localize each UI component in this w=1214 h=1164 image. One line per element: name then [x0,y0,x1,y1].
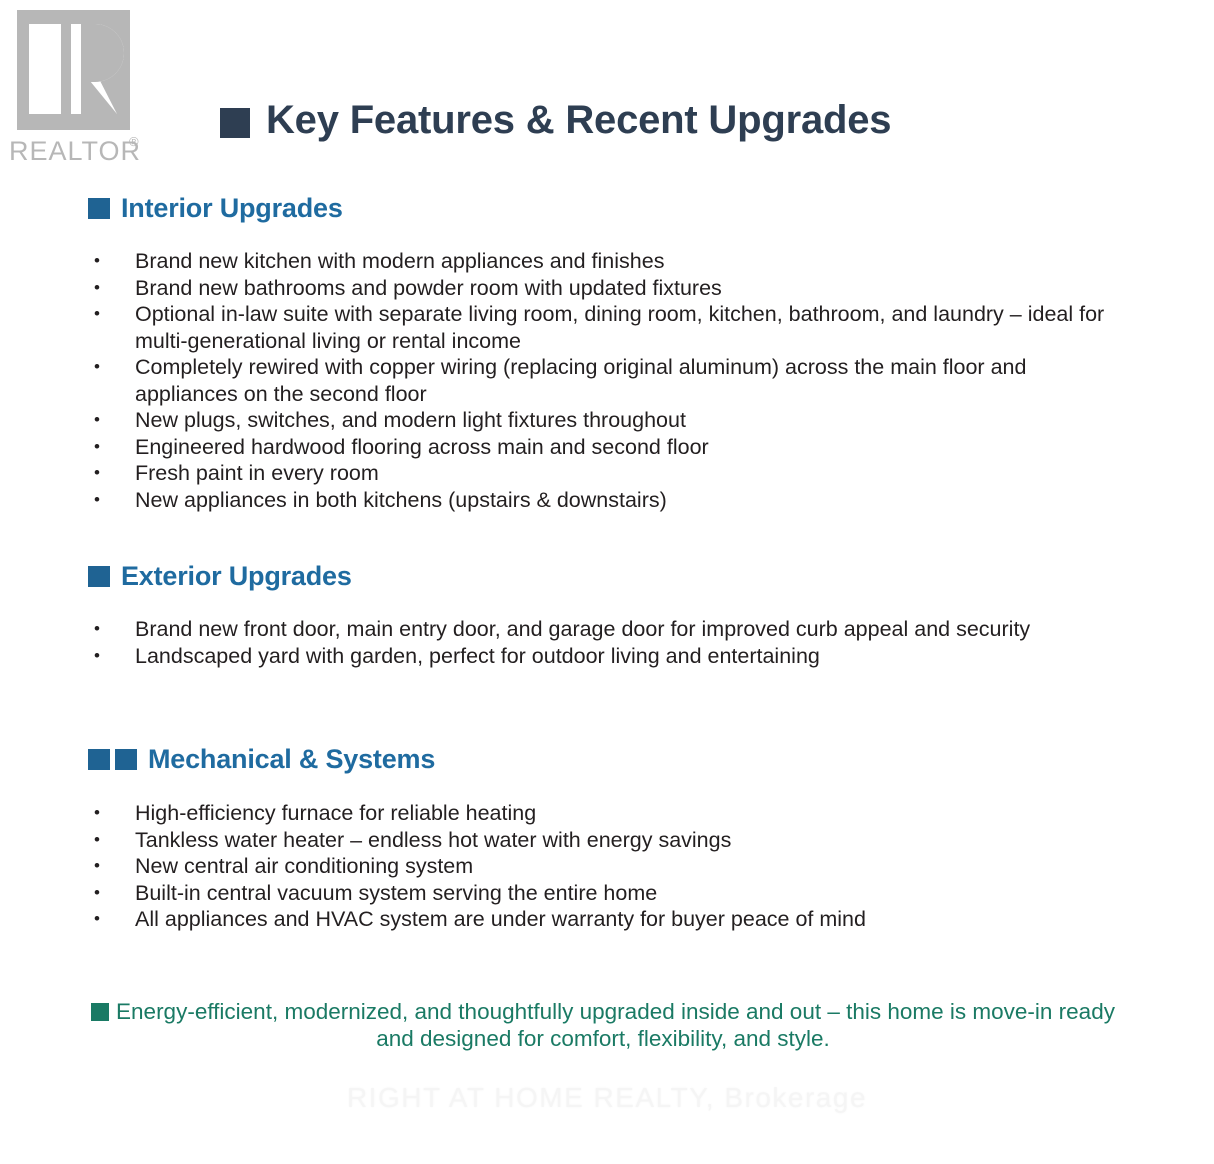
section-square-group [88,198,110,219]
list-item: New central air conditioning system [88,853,1128,880]
list-item: Brand new front door, main entry door, a… [88,616,1128,643]
section-title: Mechanical & Systems [148,744,435,775]
title-square-icon [220,108,250,138]
section-title: Exterior Upgrades [121,561,352,592]
section-square-icon [88,566,110,587]
interior-upgrades-list: Brand new kitchen with modern appliances… [88,248,1128,513]
list-item: Fresh paint in every room [88,460,1128,487]
realtor-logo-word: REALTOR [9,136,141,166]
realtor-logo: REALTOR ® [5,8,145,168]
section-heading-row: Exterior Upgrades [88,561,1128,592]
section-heading-row: Mechanical & Systems [88,744,1128,775]
list-item: Engineered hardwood flooring across main… [88,434,1128,461]
list-item: Optional in-law suite with separate livi… [88,301,1128,354]
section-heading-row: Interior Upgrades [88,193,1128,224]
page-title: Key Features & Recent Upgrades [266,98,891,143]
exterior-upgrades-list: Brand new front door, main entry door, a… [88,616,1128,669]
realtor-logo-registered: ® [129,134,139,149]
closing-square-icon [91,1003,109,1021]
list-item: High-efficiency furnace for reliable hea… [88,800,1128,827]
list-item: Built-in central vacuum system serving t… [88,880,1128,907]
section-title: Interior Upgrades [121,193,343,224]
page-title-row: Key Features & Recent Upgrades [220,98,891,143]
list-item: All appliances and HVAC system are under… [88,906,1128,933]
section-square-icon-secondary [115,749,137,770]
list-item: Brand new kitchen with modern appliances… [88,248,1128,275]
section-square-group [88,566,110,587]
section-square-icon [88,749,110,770]
closing-statement-text: Energy-efficient, modernized, and though… [116,999,1115,1051]
section-exterior-upgrades: Exterior Upgrades Brand new front door, … [88,561,1128,669]
list-item: New plugs, switches, and modern light fi… [88,407,1128,434]
feature-sheet-page: REALTOR ® Key Features & Recent Upgrades… [0,0,1214,1164]
list-item: Landscaped yard with garden, perfect for… [88,643,1128,670]
list-item: Brand new bathrooms and powder room with… [88,275,1128,302]
section-mechanical-systems: Mechanical & Systems High-efficiency fur… [88,744,1128,933]
list-item: Completely rewired with copper wiring (r… [88,354,1128,407]
list-item: Tankless water heater – endless hot wate… [88,827,1128,854]
section-interior-upgrades: Interior Upgrades Brand new kitchen with… [88,193,1128,513]
closing-statement: Energy-efficient, modernized, and though… [88,998,1118,1052]
realtor-r-mark-icon: REALTOR ® [5,8,145,168]
section-square-icon [88,198,110,219]
section-square-group [88,749,137,770]
brokerage-watermark: RIGHT AT HOME REALTY, Brokerage [0,1082,1214,1114]
mechanical-systems-list: High-efficiency furnace for reliable hea… [88,800,1128,933]
list-item: New appliances in both kitchens (upstair… [88,487,1128,514]
